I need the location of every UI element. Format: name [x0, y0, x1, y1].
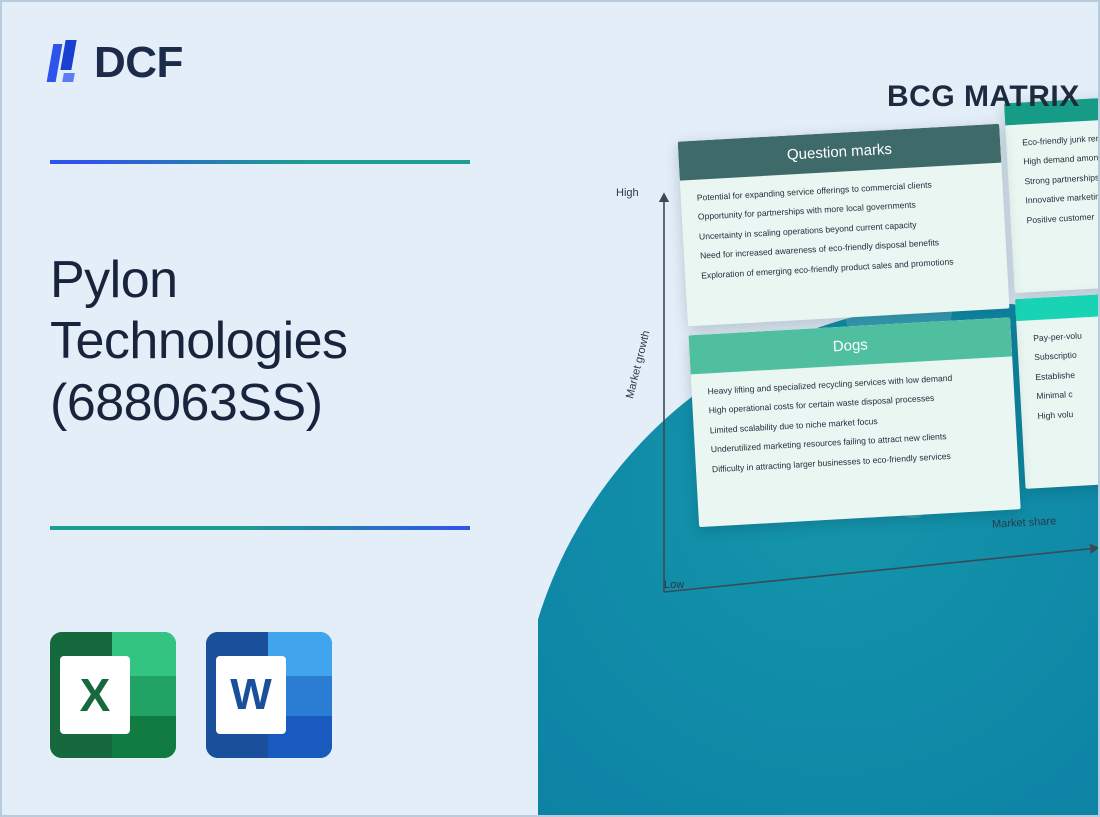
word-icon[interactable]: W [206, 632, 332, 758]
title-panel: DCF Pylon Technologies (688063SS) X W [2, 2, 542, 817]
word-icon-letter: W [216, 656, 286, 734]
quadrant-question-marks-items: Potential for expanding service offering… [680, 163, 1008, 304]
dcf-bars-icon [50, 40, 80, 86]
quadrant-question-marks[interactable]: Question marks Potential for expanding s… [678, 124, 1010, 327]
quadrant-dogs-items: Heavy lifting and specialized recycling … [691, 356, 1019, 497]
divider-bottom [50, 526, 470, 530]
page-title: Pylon Technologies (688063SS) [50, 250, 520, 434]
quadrant-cash-cows[interactable]: Pay-per-volu Subscriptio Establishe Mini… [1015, 286, 1100, 489]
logo-text: DCF [94, 41, 183, 85]
divider-top [50, 160, 470, 164]
page-title-line-3: (688063SS) [50, 373, 520, 434]
quadrant-cash-cows-items: Pay-per-volu Subscriptio Establishe Mini… [1016, 308, 1100, 444]
list-item: Eco-friendly junk remo [1022, 125, 1100, 149]
file-format-icons: X W [50, 632, 332, 758]
excel-icon[interactable]: X [50, 632, 176, 758]
bcg-matrix-heading: BCG MATRIX [887, 80, 1080, 114]
list-item: Pay-per-volu [1033, 321, 1100, 345]
dcf-logo[interactable]: DCF [50, 40, 183, 86]
page-title-line-2: Technologies [50, 311, 520, 372]
quadrant-stars-items: Eco-friendly junk remo High demand among… [1005, 112, 1100, 248]
quadrant-dogs[interactable]: Dogs Heavy lifting and specialized recyc… [688, 317, 1020, 527]
excel-icon-letter: X [60, 656, 130, 734]
quadrant-stars[interactable]: Eco-friendly junk remo High demand among… [1004, 90, 1100, 293]
bcg-matrix: Eco-friendly junk remo High demand among… [588, 77, 1100, 627]
page-title-line-1: Pylon [50, 250, 520, 311]
slide-canvas: BCG MATRIX High Low Market share Market … [0, 0, 1100, 817]
